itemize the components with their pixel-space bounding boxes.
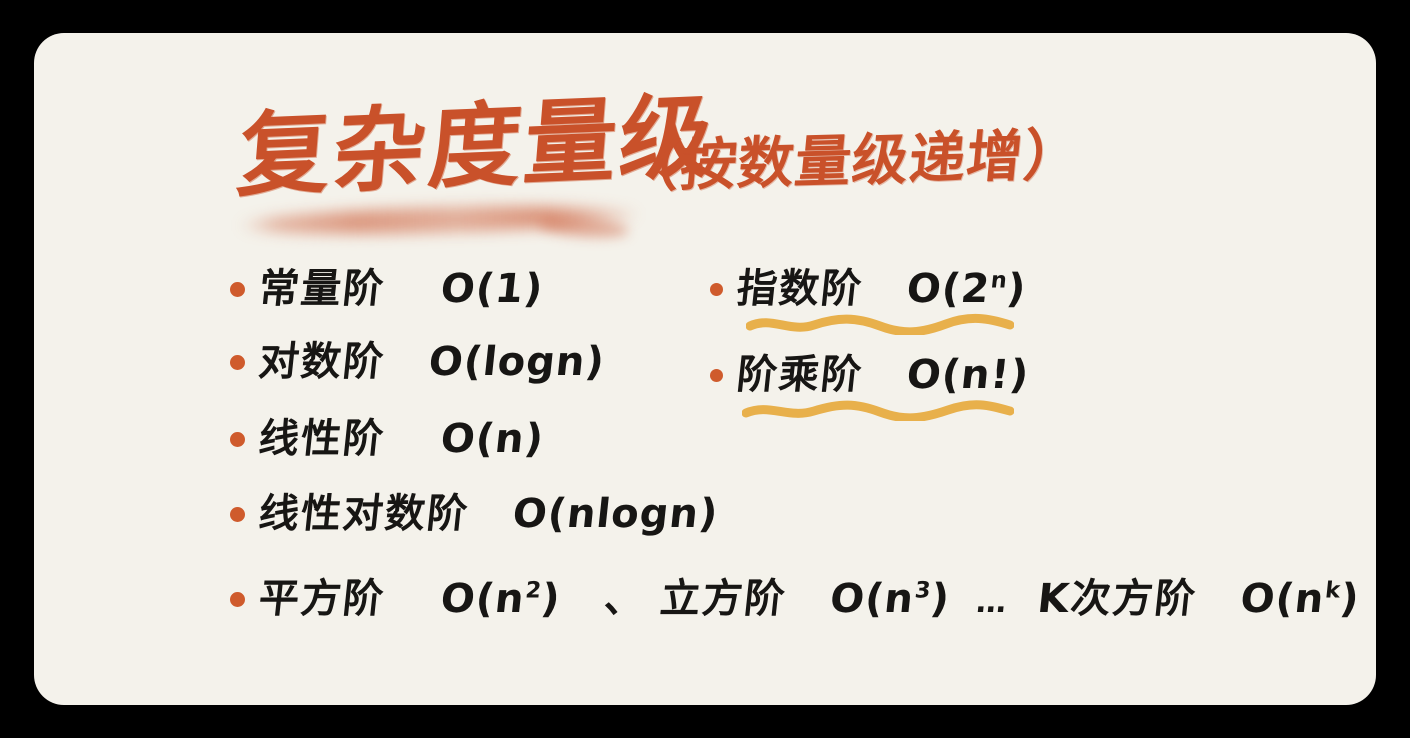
title-block: 复杂度量级 （按数量级递增） [209, 101, 1109, 251]
list-item: 线性阶 O(n) [230, 419, 544, 459]
order-notation: O(1) [438, 266, 545, 312]
square-base: O(n [438, 576, 527, 622]
bullet-dot-icon [230, 507, 245, 522]
list-item-exponential: 指数阶 O(2n) [710, 269, 1026, 309]
title-subtitle: （按数量级递增） [621, 128, 1084, 197]
list-item-text: 指数阶 O(2n) [735, 269, 1028, 309]
list-item-text: 阶乘阶 O(n!) [735, 355, 1031, 395]
exp-base: O(2 [904, 266, 992, 312]
list-item-text: 线性阶 O(n) [257, 419, 546, 459]
order-name: 线性对数阶 [257, 491, 472, 537]
highlight-wave-factorial [742, 399, 1014, 421]
order-name-square: 平方阶 [257, 576, 388, 622]
kth-base: O(n [1238, 576, 1327, 622]
note-card: 复杂度量级 （按数量级递增） 常量阶 O(1) 对数阶 O(logn) [34, 33, 1376, 705]
fact-close: ) [1007, 352, 1031, 398]
order-notation-kth: O(nk) [1238, 576, 1362, 622]
list-item: 对数阶 O(logn) [230, 342, 605, 382]
order-notation: O(2n) [904, 266, 1028, 312]
bullet-dot-icon [230, 592, 245, 607]
list-item-polynomial: 平方阶 O(n2) 、 立方阶 O(n3) … K次方阶 O(nk) [230, 579, 1360, 619]
order-notation: O(n!) [904, 352, 1031, 398]
separator-mark: 、 [602, 576, 648, 622]
order-name: 对数阶 [257, 339, 388, 385]
order-notation: O(n) [438, 416, 546, 462]
order-name: 指数阶 [735, 266, 866, 312]
order-notation-square: O(n2) [438, 576, 562, 622]
order-notation: O(logn) [426, 339, 607, 385]
order-notation-cubic: O(n3) [828, 576, 952, 622]
highlight-wave-exponential [746, 313, 1014, 335]
bullet-dot-icon [230, 282, 245, 297]
list-item-text: 线性对数阶 O(nlogn) [257, 494, 720, 534]
cubic-close: ) [928, 576, 952, 622]
cubic-base: O(n [828, 576, 917, 622]
bullet-dot-icon [710, 369, 723, 382]
list-item-factorial: 阶乘阶 O(n!) [710, 355, 1029, 395]
ellipsis-mark: … [963, 588, 1024, 618]
exp-close: ) [1005, 266, 1029, 312]
order-name: 常量阶 [257, 266, 388, 312]
fact-base: O(n! [904, 352, 1012, 398]
bullet-dot-icon [230, 355, 245, 370]
bullet-dot-icon [710, 283, 723, 296]
list-item: 常量阶 O(1) [230, 269, 543, 309]
list-item-text: 平方阶 O(n2) 、 立方阶 O(n3) … K次方阶 O(nk) [257, 579, 1362, 619]
order-name-cubic: 立方阶 [658, 576, 789, 622]
kth-close: ) [1338, 576, 1362, 622]
list-item-text: 对数阶 O(logn) [257, 342, 607, 382]
bullet-dot-icon [230, 432, 245, 447]
screenshot-stage: 复杂度量级 （按数量级递增） 常量阶 O(1) 对数阶 O(logn) [0, 0, 1410, 738]
order-name: 阶乘阶 [735, 352, 866, 398]
order-name: 线性阶 [257, 416, 388, 462]
order-name-kth: K次方阶 [1035, 576, 1199, 622]
square-close: ) [539, 576, 563, 622]
list-item: 线性对数阶 O(nlogn) [230, 494, 718, 534]
order-notation: O(nlogn) [510, 491, 720, 537]
list-item-text: 常量阶 O(1) [257, 269, 545, 309]
